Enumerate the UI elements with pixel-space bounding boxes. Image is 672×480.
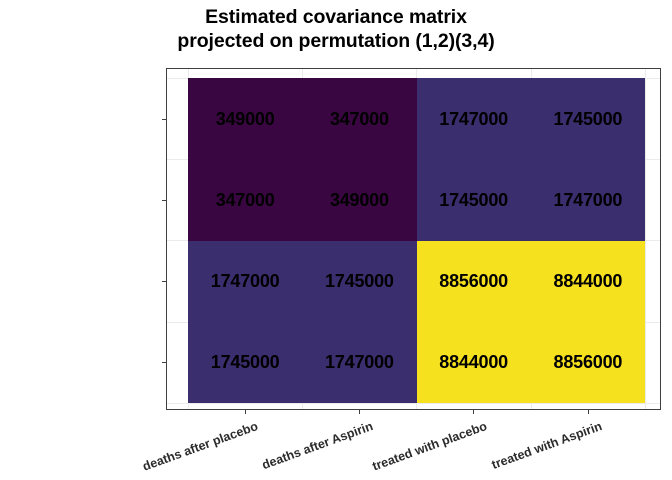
cell-value: 8844000 <box>439 353 508 371</box>
cell-value: 1747000 <box>211 272 280 290</box>
x-axis-tick <box>588 409 589 414</box>
heatmap-cell[interactable]: 1745000 <box>417 159 531 240</box>
heatmap-cell[interactable]: 8844000 <box>417 322 531 403</box>
cell-value: 1747000 <box>554 191 623 209</box>
cell-value: 349000 <box>216 110 275 128</box>
y-axis-tick <box>162 119 167 120</box>
heatmap-cell[interactable]: 8856000 <box>531 322 645 403</box>
heatmap-panel: deaths after placebo deaths after Aspiri… <box>166 68 661 410</box>
cell-value: 1745000 <box>325 272 394 290</box>
x-axis-tick <box>245 409 246 414</box>
cell-value: 1747000 <box>439 110 508 128</box>
y-axis-tick <box>162 281 167 282</box>
x-axis-tick <box>359 409 360 414</box>
heatmap-cell[interactable]: 349000 <box>188 78 302 159</box>
title-line-2: projected on permutation (1,2)(3,4) <box>0 29 672 53</box>
gridline-vertical <box>645 69 646 409</box>
y-axis-tick <box>162 200 167 201</box>
heatmap-cell[interactable]: 1747000 <box>188 241 302 322</box>
heatmap-cell[interactable]: 1747000 <box>531 159 645 240</box>
cell-value: 347000 <box>330 110 389 128</box>
x-axis-label-3: treated with Aspirin <box>467 419 603 480</box>
cell-value: 349000 <box>330 191 389 209</box>
heatmap-tile-grid: 349000 347000 1747000 1745000 347000 349… <box>188 78 645 403</box>
heatmap-cell[interactable]: 1747000 <box>417 78 531 159</box>
x-axis-tick <box>473 409 474 414</box>
page-title: Estimated covariance matrix projected on… <box>0 5 672 53</box>
cell-value: 8856000 <box>439 272 508 290</box>
heatmap-cell[interactable]: 347000 <box>188 159 302 240</box>
heatmap-cell[interactable]: 8856000 <box>417 241 531 322</box>
cell-value: 8844000 <box>554 272 623 290</box>
heatmap-cell[interactable]: 1747000 <box>302 322 416 403</box>
y-axis-tick <box>162 362 167 363</box>
cell-value: 1745000 <box>439 191 508 209</box>
heatmap-cell[interactable]: 8844000 <box>531 241 645 322</box>
gridline-horizontal <box>167 403 660 404</box>
cell-value: 1745000 <box>211 353 280 371</box>
heatmap-cell[interactable]: 1745000 <box>531 78 645 159</box>
cell-value: 1745000 <box>554 110 623 128</box>
cell-value: 1747000 <box>325 353 394 371</box>
cell-value: 347000 <box>216 191 275 209</box>
cell-value: 8856000 <box>554 353 623 371</box>
heatmap-cell[interactable]: 1745000 <box>302 241 416 322</box>
heatmap-cell[interactable]: 349000 <box>302 159 416 240</box>
title-line-1: Estimated covariance matrix <box>0 5 672 29</box>
heatmap-cell[interactable]: 1745000 <box>188 322 302 403</box>
heatmap-cell[interactable]: 347000 <box>302 78 416 159</box>
